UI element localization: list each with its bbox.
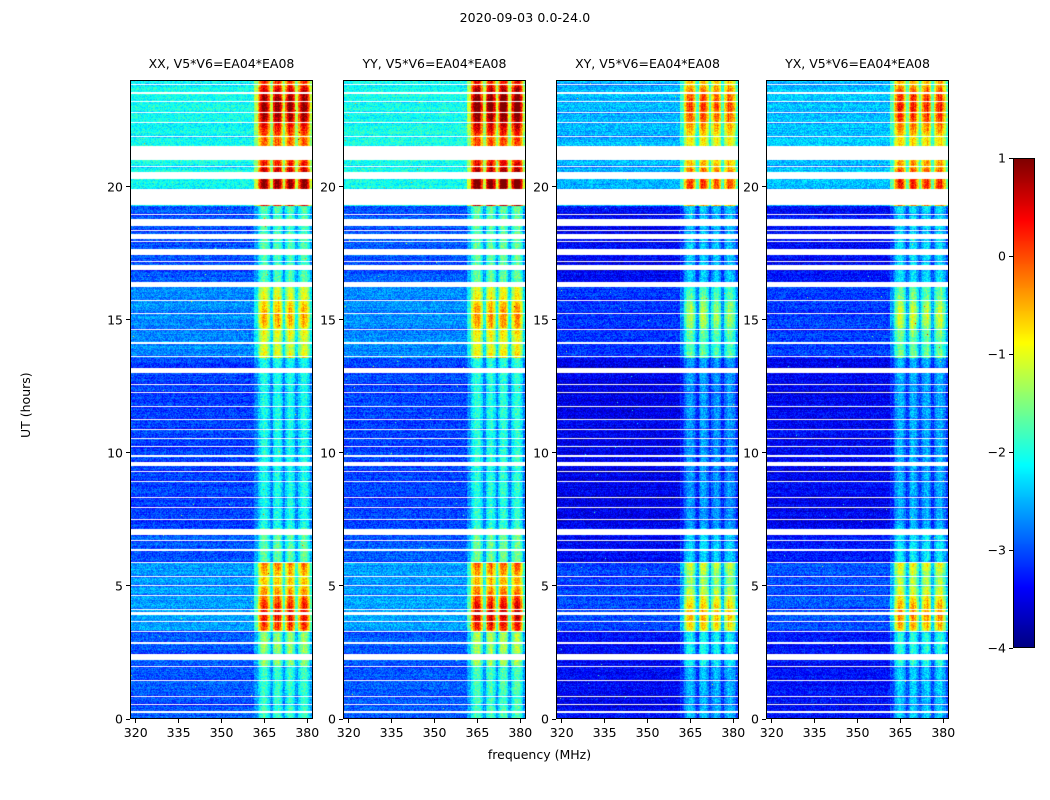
- y-tickmark: [552, 186, 556, 187]
- panel-title-xx: XX, V5*V6=EA04*EA08: [130, 56, 313, 71]
- x-tickmark: [690, 719, 691, 723]
- x-tickmark: [434, 719, 435, 723]
- colorbar-tickmark: [1009, 648, 1013, 649]
- x-tick-label: 365: [678, 725, 702, 740]
- x-tick-label: 320: [124, 725, 148, 740]
- y-tickmark: [126, 186, 130, 187]
- y-tick-label: 20: [90, 179, 123, 194]
- y-tick-label: 10: [303, 445, 336, 460]
- x-tick-label: 380: [931, 725, 955, 740]
- colorbar-gradient: [1014, 159, 1035, 648]
- panel-xy: XY, V5*V6=EA04*EA08: [556, 80, 739, 719]
- waterfall-image-yy: [344, 81, 526, 719]
- colorbar-tick-label: 1: [969, 151, 1006, 166]
- y-tickmark: [552, 719, 556, 720]
- colorbar-tick-label: 0: [969, 249, 1006, 264]
- x-tickmark: [178, 719, 179, 723]
- colorbar-tick-label: −1: [969, 347, 1006, 362]
- y-tick-label: 0: [516, 712, 549, 727]
- y-tickmark: [339, 719, 343, 720]
- panel-title-xy: XY, V5*V6=EA04*EA08: [556, 56, 739, 71]
- y-tick-label: 5: [516, 578, 549, 593]
- x-tickmark: [221, 719, 222, 723]
- y-tickmark: [339, 186, 343, 187]
- y-tick-label: 20: [516, 179, 549, 194]
- x-tick-label: 350: [423, 725, 447, 740]
- x-tickmark: [391, 719, 392, 723]
- y-tickmark: [552, 585, 556, 586]
- y-tickmark: [126, 719, 130, 720]
- waterfall-xy[interactable]: [556, 80, 739, 719]
- x-tickmark: [135, 719, 136, 723]
- y-tick-label: 20: [726, 179, 759, 194]
- x-tick-label: 335: [803, 725, 827, 740]
- y-tickmark: [552, 319, 556, 320]
- y-tick-label: 10: [90, 445, 123, 460]
- x-tick-label: 335: [380, 725, 404, 740]
- x-tick-label: 380: [295, 725, 319, 740]
- y-tickmark: [126, 452, 130, 453]
- x-tickmark: [814, 719, 815, 723]
- y-tickmark: [762, 186, 766, 187]
- y-tick-label: 0: [726, 712, 759, 727]
- x-tick-label: 335: [167, 725, 191, 740]
- y-tickmark: [762, 452, 766, 453]
- x-tick-label: 335: [593, 725, 617, 740]
- x-tick-label: 320: [550, 725, 574, 740]
- y-tick-label: 15: [726, 312, 759, 327]
- y-tickmark: [339, 585, 343, 586]
- x-tickmark: [943, 719, 944, 723]
- colorbar-tick-label: −3: [969, 543, 1006, 558]
- y-tick-label: 15: [516, 312, 549, 327]
- y-tick-label: 15: [90, 312, 123, 327]
- colorbar-tickmark: [1009, 550, 1013, 551]
- y-tick-label: 5: [90, 578, 123, 593]
- y-tick-label: 20: [303, 179, 336, 194]
- colorbar-tick-label: −2: [969, 445, 1006, 460]
- x-tick-label: 320: [760, 725, 784, 740]
- x-tick-label: 365: [888, 725, 912, 740]
- x-tickmark: [771, 719, 772, 723]
- x-tickmark: [561, 719, 562, 723]
- y-tick-label: 10: [516, 445, 549, 460]
- y-tickmark: [762, 319, 766, 320]
- colorbar-tickmark: [1009, 158, 1013, 159]
- y-tickmark: [339, 452, 343, 453]
- figure-suptitle: 2020-09-03 0.0-24.0: [0, 10, 1050, 25]
- y-tick-label: 15: [303, 312, 336, 327]
- x-tickmark: [348, 719, 349, 723]
- x-tickmark: [264, 719, 265, 723]
- x-tick-label: 350: [210, 725, 234, 740]
- waterfall-yy[interactable]: [343, 80, 526, 719]
- waterfall-image-xx: [131, 81, 313, 719]
- x-tick-label: 365: [252, 725, 276, 740]
- y-tickmark: [126, 319, 130, 320]
- y-tickmark: [339, 319, 343, 320]
- y-tick-label: 5: [303, 578, 336, 593]
- y-tickmark: [762, 719, 766, 720]
- colorbar[interactable]: [1013, 158, 1035, 648]
- panel-title-yx: YX, V5*V6=EA04*EA08: [766, 56, 949, 71]
- y-tick-label: 0: [90, 712, 123, 727]
- x-tick-label: 380: [508, 725, 532, 740]
- y-tickmark: [762, 585, 766, 586]
- y-tickmark: [126, 585, 130, 586]
- waterfall-image-xy: [557, 81, 739, 719]
- y-tick-label: 0: [303, 712, 336, 727]
- x-tick-label: 320: [337, 725, 361, 740]
- colorbar-tickmark: [1009, 452, 1013, 453]
- x-tick-label: 350: [846, 725, 870, 740]
- waterfall-image-yx: [767, 81, 949, 719]
- x-tickmark: [900, 719, 901, 723]
- panel-yx: YX, V5*V6=EA04*EA08: [766, 80, 949, 719]
- x-tick-label: 350: [636, 725, 660, 740]
- x-tickmark: [647, 719, 648, 723]
- panel-title-yy: YY, V5*V6=EA04*EA08: [343, 56, 526, 71]
- x-tick-label: 365: [465, 725, 489, 740]
- waterfall-yx[interactable]: [766, 80, 949, 719]
- waterfall-xx[interactable]: [130, 80, 313, 719]
- panel-xx: XX, V5*V6=EA04*EA08: [130, 80, 313, 719]
- colorbar-tick-label: −4: [969, 641, 1006, 656]
- colorbar-tickmark: [1009, 354, 1013, 355]
- x-tickmark: [604, 719, 605, 723]
- x-tickmark: [477, 719, 478, 723]
- x-tick-label: 380: [721, 725, 745, 740]
- panel-yy: YY, V5*V6=EA04*EA08: [343, 80, 526, 719]
- figure-canvas: 2020-09-03 0.0-24.0 UT (hours) frequency…: [0, 0, 1050, 800]
- x-tickmark: [857, 719, 858, 723]
- y-tickmark: [552, 452, 556, 453]
- y-axis-label: UT (hours): [18, 372, 33, 438]
- y-tick-label: 10: [726, 445, 759, 460]
- y-tick-label: 5: [726, 578, 759, 593]
- colorbar-tickmark: [1009, 256, 1013, 257]
- x-axis-label: frequency (MHz): [130, 747, 949, 762]
